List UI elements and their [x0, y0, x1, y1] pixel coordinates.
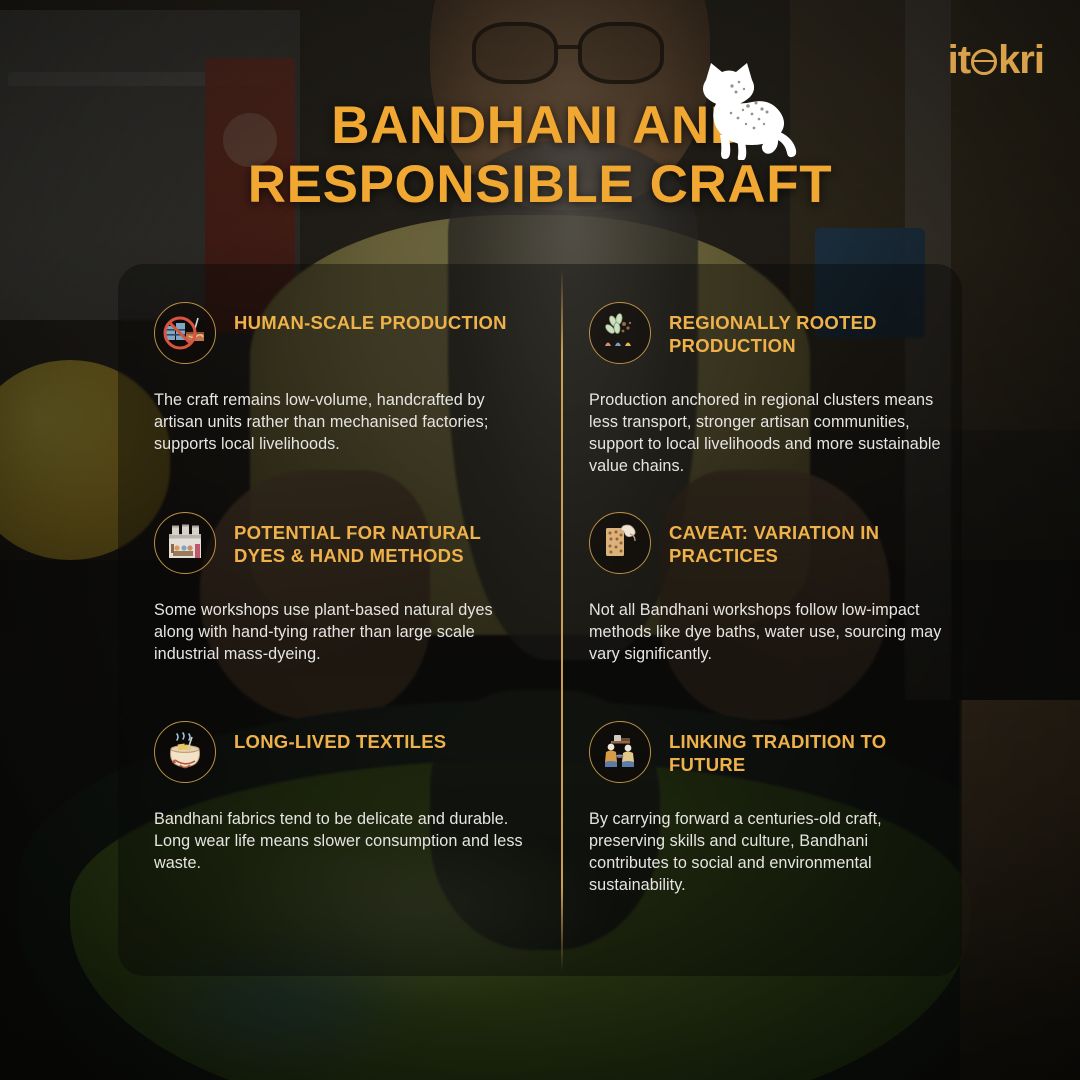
poster-title-block: BANDHANI AND RESPONSIBLE CRAFT	[0, 96, 1080, 215]
feature-header: POTENTIAL FOR NATURAL DYES & HAND METHOD…	[154, 512, 535, 574]
page-title-line2: RESPONSIBLE CRAFT	[0, 155, 1080, 214]
logo-basket-o-icon	[971, 49, 997, 75]
artisan-workshop-icon	[154, 512, 216, 574]
hand-holding-fabric-icon	[589, 512, 651, 574]
feature-title: CAVEAT: VARIATION IN PRACTICES	[669, 512, 931, 567]
feature-body: By carrying forward a centuries-old craf…	[589, 809, 944, 896]
feature-linking-tradition-to-future[interactable]: LINKING TRADITION TO FUTURE By carrying …	[561, 683, 962, 976]
infographic-poster: itkri BANDHANI AND RESPONSIBLE CRAFT	[0, 0, 1080, 1080]
feature-title: REGIONALLY ROOTED PRODUCTION	[669, 302, 944, 357]
feature-regionally-rooted-production[interactable]: REGIONALLY ROOTED PRODUCTION Production …	[561, 264, 962, 474]
features-grid: HUMAN-SCALE PRODUCTION The craft remains…	[118, 264, 962, 976]
feature-header: LINKING TRADITION TO FUTURE	[589, 721, 944, 783]
feature-body: The craft remains low-volume, handcrafte…	[154, 390, 535, 456]
feature-human-scale-production[interactable]: HUMAN-SCALE PRODUCTION The craft remains…	[118, 264, 561, 474]
feature-header: CAVEAT: VARIATION IN PRACTICES	[589, 512, 944, 574]
feature-body: Not all Bandhani workshops follow low-im…	[589, 600, 944, 666]
cat-mascot-icon	[688, 58, 800, 160]
feature-long-lived-textiles[interactable]: LONG-LIVED TEXTILES Bandhani fabrics ten…	[118, 683, 561, 976]
feature-body: Bandhani fabrics tend to be delicate and…	[154, 809, 535, 875]
dye-pot-icon	[154, 721, 216, 783]
feature-header: HUMAN-SCALE PRODUCTION	[154, 302, 535, 364]
page-title-line1: BANDHANI AND	[0, 96, 1080, 155]
two-artisans-icon	[589, 721, 651, 783]
feature-body: Production anchored in regional clusters…	[589, 390, 944, 477]
natural-dye-leaves-icon	[589, 302, 651, 364]
feature-header: REGIONALLY ROOTED PRODUCTION	[589, 302, 944, 364]
feature-body: Some workshops use plant-based natural d…	[154, 600, 535, 666]
itokri-logo[interactable]: itkri	[948, 40, 1044, 80]
logo-text-after: kri	[998, 40, 1044, 80]
logo-text-before: it	[948, 40, 970, 80]
no-factory-icon	[154, 302, 216, 364]
feature-title: LONG-LIVED TEXTILES	[234, 721, 446, 753]
feature-caveat-variation-in-practices[interactable]: CAVEAT: VARIATION IN PRACTICES Not all B…	[561, 474, 962, 683]
feature-potential-for-natural-dyes[interactable]: POTENTIAL FOR NATURAL DYES & HAND METHOD…	[118, 474, 561, 683]
feature-header: LONG-LIVED TEXTILES	[154, 721, 535, 783]
feature-title: POTENTIAL FOR NATURAL DYES & HAND METHOD…	[234, 512, 514, 567]
feature-title: HUMAN-SCALE PRODUCTION	[234, 302, 507, 334]
feature-title: LINKING TRADITION TO FUTURE	[669, 721, 931, 776]
